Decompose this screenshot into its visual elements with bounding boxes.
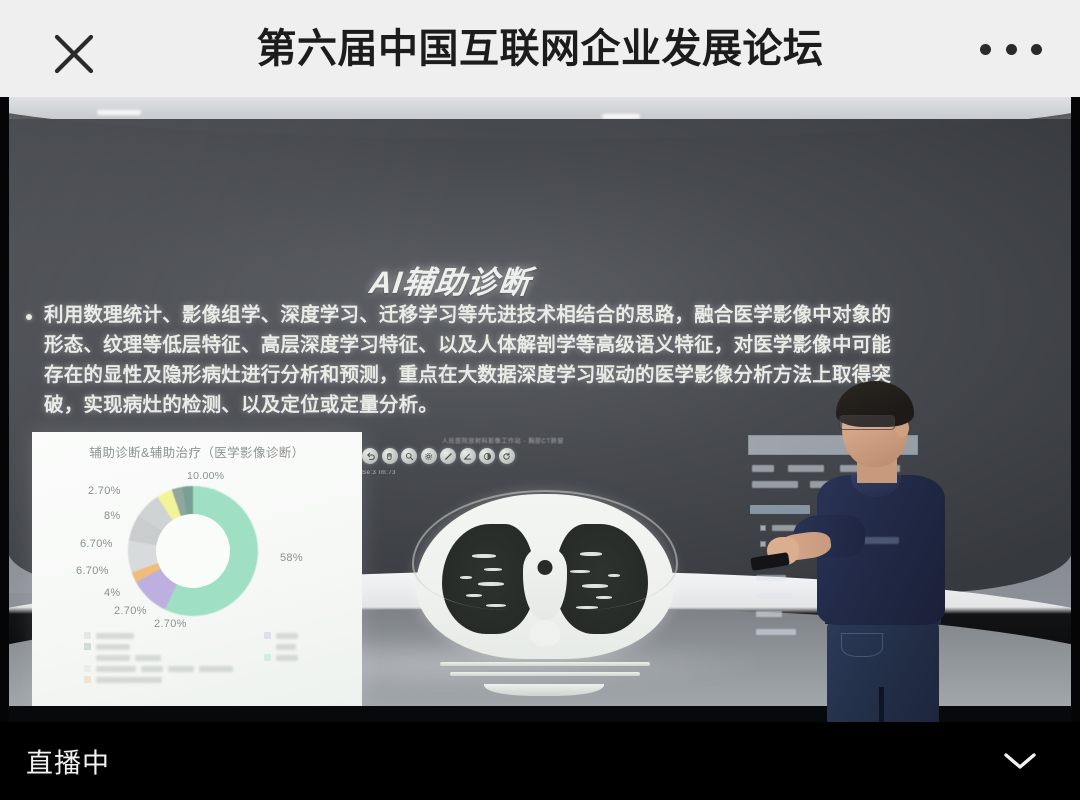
chart-label: 58% bbox=[280, 552, 303, 564]
reset-icon[interactable] bbox=[499, 448, 515, 464]
panel-checkbox[interactable] bbox=[760, 525, 766, 531]
legend-item bbox=[84, 676, 334, 683]
live-status-label: 直播中 bbox=[26, 742, 110, 781]
presenter bbox=[795, 387, 1010, 722]
legend-item bbox=[264, 654, 354, 661]
zoom-icon[interactable] bbox=[401, 448, 417, 464]
chart-label: 2.70% bbox=[114, 605, 147, 617]
panel-text bbox=[756, 611, 782, 617]
chart-title: 辅助诊断&辅助治疗（医学影像诊断） bbox=[32, 442, 362, 461]
presenter-leg-separation bbox=[879, 687, 884, 722]
donut-center-hole bbox=[156, 514, 230, 588]
panel-text bbox=[756, 575, 786, 581]
legend-swatch bbox=[264, 654, 271, 661]
chart-label: 2.70% bbox=[88, 485, 121, 497]
legend-swatch bbox=[264, 632, 271, 639]
panel-text bbox=[752, 465, 774, 472]
presenter-pocket bbox=[841, 633, 883, 657]
slide-title: AI辅助诊断 bbox=[367, 257, 593, 302]
live-stream-page: 第六届中国互联网企业发展论坛 AI辅助诊断 利用数理统计、影像组学、深度学习、迁… bbox=[0, 0, 1080, 800]
slide-body-line: 形态、纹理等低层特征、高层深度学习特征、以及人体解剖学等高级语义特征，对医学影像… bbox=[44, 331, 894, 359]
page-title: 第六届中国互联网企业发展论坛 bbox=[0, 0, 1080, 97]
video-edge-right bbox=[1071, 97, 1080, 722]
legend-label bbox=[96, 644, 130, 650]
chart-label: 6.70% bbox=[76, 565, 109, 577]
ct-scan-image bbox=[378, 480, 708, 710]
chart-legend bbox=[84, 632, 334, 687]
ct-image-viewer: 人民医院放射科影像工作站 - 胸部CT肺窗 bbox=[356, 432, 736, 722]
chart-label: 8% bbox=[104, 510, 121, 522]
pencil-icon[interactable] bbox=[440, 448, 456, 464]
ct-table-edge bbox=[484, 684, 604, 696]
legend-item bbox=[264, 643, 354, 650]
legend-swatch bbox=[264, 643, 271, 650]
legend-swatch bbox=[84, 665, 91, 672]
chart-label: 6.70% bbox=[80, 538, 113, 550]
live-video-player[interactable]: AI辅助诊断 利用数理统计、影像组学、深度学习、迁移学习等先进技术相结合的思路，… bbox=[0, 97, 1080, 722]
ct-toolbar bbox=[362, 448, 515, 464]
live-status-bar: 直播中 bbox=[0, 722, 1080, 800]
legend-label bbox=[96, 666, 136, 672]
more-dot bbox=[1006, 44, 1017, 55]
angle-measure-icon[interactable] bbox=[460, 448, 476, 464]
ct-ribcage bbox=[412, 490, 678, 610]
legend-label bbox=[199, 666, 233, 672]
video-edge-left bbox=[0, 97, 9, 722]
chevron-down-icon[interactable] bbox=[1000, 741, 1040, 781]
navbar: 第六届中国互联网企业发展论坛 bbox=[0, 0, 1080, 97]
legend-label bbox=[276, 655, 298, 661]
panel-text bbox=[772, 525, 796, 531]
panel-text bbox=[752, 481, 798, 488]
ct-table-edge bbox=[440, 662, 650, 666]
undo-icon[interactable] bbox=[362, 448, 378, 464]
panel-checkbox[interactable] bbox=[760, 541, 766, 547]
legend-label bbox=[135, 655, 161, 661]
donut-chart-card: 辅助诊断&辅助治疗（医学影像诊断） 10.00% 2.70% 8% 6.70% … bbox=[32, 432, 362, 712]
legend-swatch bbox=[84, 643, 91, 650]
legend-label bbox=[141, 666, 163, 672]
donut-chart bbox=[128, 486, 258, 616]
bullet-point-marker bbox=[26, 314, 32, 320]
chart-label: 4% bbox=[104, 587, 121, 599]
more-dot bbox=[1031, 44, 1042, 55]
legend-item bbox=[84, 665, 334, 672]
ct-slice-info: Se:3 Im:73 bbox=[362, 470, 396, 476]
ct-table-edge bbox=[450, 672, 640, 676]
contrast-icon[interactable] bbox=[479, 448, 495, 464]
legend-label bbox=[96, 677, 162, 683]
panel-text bbox=[756, 629, 796, 635]
panel-text bbox=[756, 593, 792, 599]
legend-label bbox=[276, 644, 296, 650]
legend-label bbox=[276, 633, 298, 639]
ct-spine bbox=[530, 620, 560, 646]
legend-swatch bbox=[84, 676, 91, 683]
chart-label: 10.00% bbox=[187, 470, 224, 482]
legend-label bbox=[96, 655, 130, 661]
legend-label bbox=[168, 666, 194, 672]
legend-swatch bbox=[84, 632, 91, 639]
chart-label: 2.70% bbox=[154, 618, 187, 630]
legend-column-right bbox=[264, 632, 354, 665]
slide-body-line: 破，实现病灶的检测、以及定位或定量分析。 bbox=[44, 391, 894, 419]
more-options-icon[interactable] bbox=[980, 34, 1042, 64]
presenter-glasses bbox=[839, 415, 895, 430]
legend-label bbox=[96, 633, 134, 639]
legend-item bbox=[264, 632, 354, 639]
slide-body-line: 利用数理统计、影像组学、深度学习、迁移学习等先进技术相结合的思路，融合医学影像中… bbox=[44, 301, 894, 329]
legend-swatch bbox=[84, 654, 91, 661]
more-dot bbox=[980, 44, 991, 55]
hand-pan-icon[interactable] bbox=[382, 448, 398, 464]
slide-body-line: 存在的显性及隐形病灶进行分析和预测，重点在大数据深度学习驱动的医学影像分析方法上… bbox=[44, 361, 894, 389]
settings-icon[interactable] bbox=[421, 448, 437, 464]
ct-viewer-header: 人民医院放射科影像工作站 - 胸部CT肺窗 bbox=[442, 436, 564, 445]
slide-body-text: 利用数理统计、影像组学、深度学习、迁移学习等先进技术相结合的思路，融合医学影像中… bbox=[44, 301, 894, 421]
